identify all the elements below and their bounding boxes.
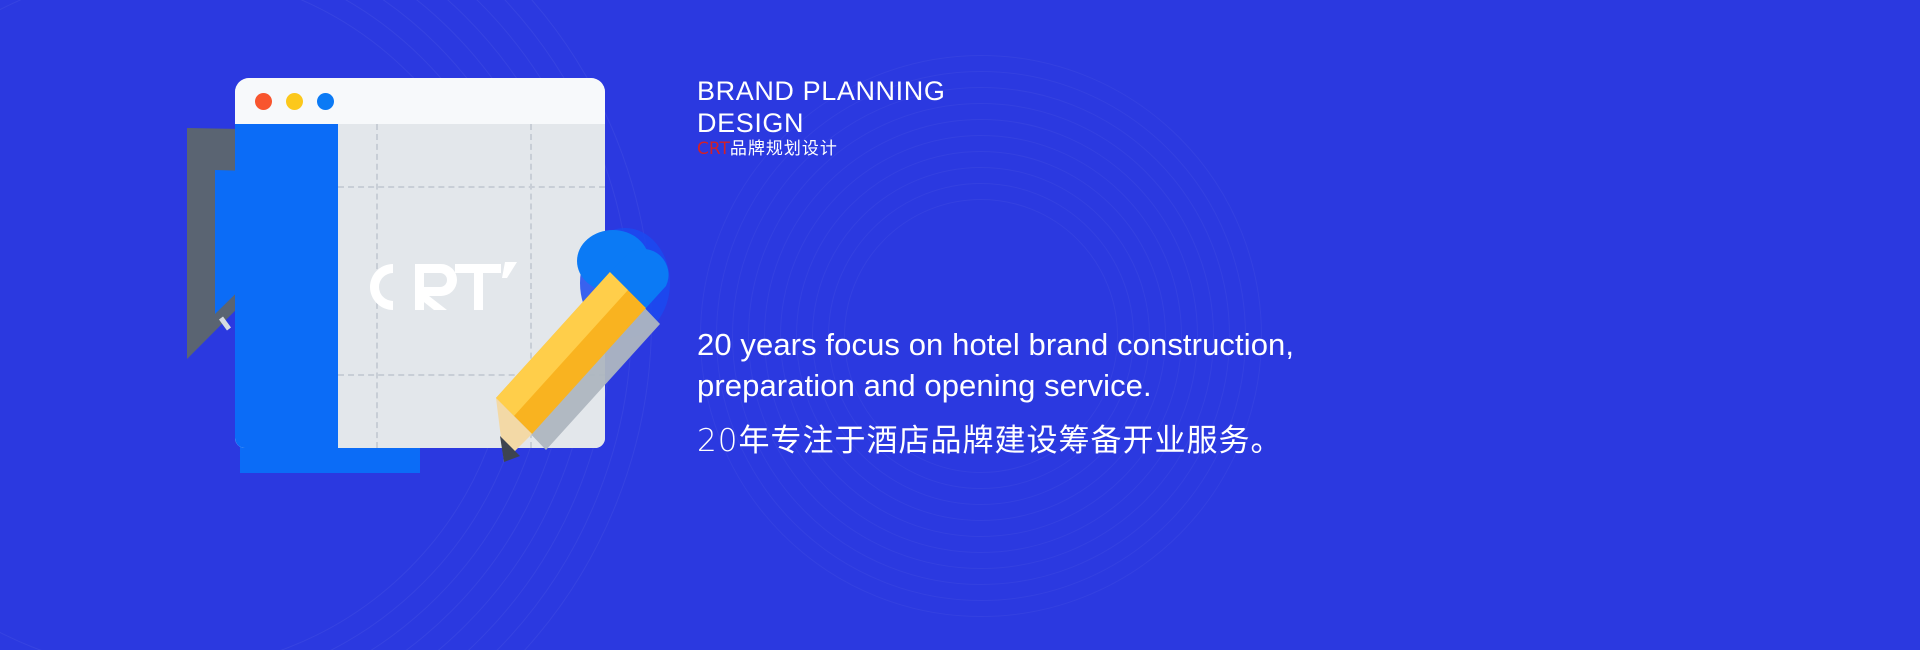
tagline-en: 20 years focus on hotel brand constructi… — [697, 325, 1437, 407]
banner-text-column: BRAND PLANNING DESIGN CRT品牌规划设计 20 years… — [697, 0, 1597, 650]
heading-en: BRAND PLANNING DESIGN — [697, 76, 1217, 140]
close-dot-icon[interactable] — [255, 93, 272, 110]
heading-subtitle: CRT品牌规划设计 — [697, 139, 838, 159]
tagline-block: 20 years focus on hotel brand constructi… — [697, 325, 1437, 461]
window-title-bar — [235, 78, 605, 124]
minimize-dot-icon[interactable] — [286, 93, 303, 110]
heading-line-2: DESIGN — [697, 108, 1217, 140]
brand-banner: BRAND PLANNING DESIGN CRT品牌规划设计 20 years… — [0, 0, 1920, 650]
heading-subtitle-cn: 品牌规划设计 — [730, 139, 838, 159]
brand-design-illustration — [185, 78, 685, 478]
tagline-en-line-1: 20 years focus on hotel brand constructi… — [697, 325, 1437, 366]
card-blue-strip — [235, 124, 338, 448]
guide-line-h — [338, 186, 605, 188]
tagline-cn: 20年专注于酒店品牌建设筹备开业服务。 — [697, 421, 1437, 461]
tagline-en-line-2: preparation and opening service. — [697, 366, 1437, 407]
pencil-icon — [470, 228, 670, 468]
heading-line-1: BRAND PLANNING — [697, 76, 1217, 108]
maximize-dot-icon[interactable] — [317, 93, 334, 110]
brand-name-crt: CRT — [697, 139, 730, 159]
